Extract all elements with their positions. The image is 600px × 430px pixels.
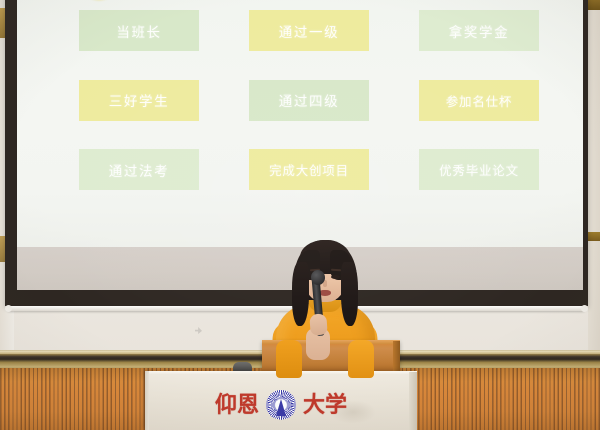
- sleeve-left: [276, 340, 302, 378]
- slide-chip-grid: 当班长 通过一级 拿奖学金 三好学生 通过四级 参加名仕杯 通过法考 完成大创项…: [79, 10, 539, 190]
- slide-chip: 完成大创项目: [249, 149, 369, 190]
- speaker-person: [270, 236, 380, 376]
- hand: [309, 313, 327, 335]
- slide-chip: 拿奖学金: [419, 10, 539, 51]
- slide-chip: 当班长: [79, 10, 199, 51]
- slide-chip: 通过一级: [249, 10, 369, 51]
- slide-chip: 通过四级: [249, 80, 369, 121]
- lectern-wood-right-edge: [393, 341, 400, 373]
- presentation-photo: 当班长 通过一级 拿奖学金 三好学生 通过四级 参加名仕杯 通过法考 完成大创项…: [0, 0, 600, 430]
- hair-strand-right: [341, 262, 358, 326]
- eye-right: [331, 275, 340, 279]
- university-name-right: 大学: [303, 394, 347, 416]
- screen-rod-cap-left: [5, 305, 12, 312]
- university-logo-icon: [266, 390, 296, 420]
- podium-university-name: 仰恩 大学: [145, 388, 417, 422]
- projected-slide: 当班长 通过一级 拿奖学金 三好学生 通过四级 参加名仕杯 通过法考 完成大创项…: [17, 0, 583, 247]
- screen-rod-cap-right: [581, 305, 588, 312]
- university-name-left: 仰恩: [215, 394, 259, 416]
- wall-gold-trim-right-upper: [588, 0, 600, 10]
- slide-chip: 通过法考: [79, 149, 199, 190]
- slide-chip: 参加名仕杯: [419, 80, 539, 121]
- wall-right-edge: [588, 0, 600, 350]
- slide-chip: 三好学生: [79, 80, 199, 121]
- slide-chip: 优秀毕业论文: [419, 149, 539, 190]
- wall-gold-trim-right-lower: [588, 232, 600, 241]
- sleeve-right: [348, 340, 374, 378]
- hair-strand-left: [292, 262, 309, 326]
